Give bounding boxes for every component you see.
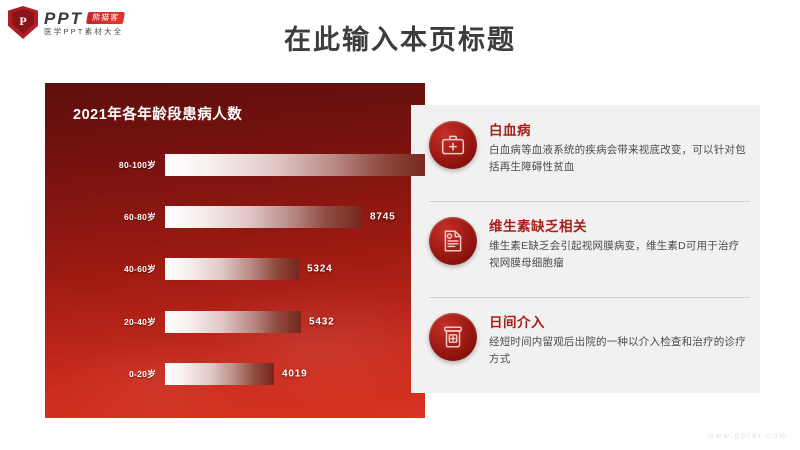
info-description: 经短时间内留观后出院的一种以介入检查和治疗的诊疗方式 [489, 334, 746, 368]
chart-panel: 2021年各年龄段患病人数 80-100岁1230060-80岁874540-6… [45, 83, 425, 418]
bar-track: 4019 [165, 363, 425, 385]
bar-fill [165, 258, 299, 280]
bar-chart: 80-100岁1230060-80岁874540-60岁532420-40岁54… [45, 139, 425, 400]
info-text-block: 白血病白血病等血液系统的疾病会带来视底改变，可以针对包括再生障碍性贫血 [489, 115, 746, 176]
bar-row: 80-100岁12300 [45, 154, 425, 176]
bar-value-label: 8745 [370, 212, 395, 223]
chart-title: 2021年各年龄段患病人数 [73, 103, 242, 124]
info-text-block: 维生素缺乏相关维生素E缺乏会引起视网膜病变，维生素D可用于治疗视网膜母细胞瘤 [489, 211, 746, 272]
first-aid-kit-icon [429, 121, 477, 169]
bar-track: 5324 [165, 258, 425, 280]
info-panel: 白血病白血病等血液系统的疾病会带来视底改变，可以针对包括再生障碍性贫血维生素缺乏… [411, 105, 760, 393]
bar-category-label: 60-80岁 [45, 211, 165, 223]
bar-track: 12300 [165, 154, 425, 176]
bar-row: 40-60岁5324 [45, 258, 425, 280]
info-item[interactable]: 日间介入经短时间内留观后出院的一种以介入检查和治疗的诊疗方式 [411, 297, 760, 393]
bar-track: 5432 [165, 311, 425, 333]
bar-fill [165, 206, 362, 228]
info-item[interactable]: 维生素缺乏相关维生素E缺乏会引起视网膜病变，维生素D可用于治疗视网膜母细胞瘤 [411, 201, 760, 297]
bar-fill [165, 363, 274, 385]
bar-row: 20-40岁5432 [45, 311, 425, 333]
bar-category-label: 20-40岁 [45, 316, 165, 328]
info-item[interactable]: 白血病白血病等血液系统的疾病会带来视底改变，可以针对包括再生障碍性贫血 [411, 105, 760, 201]
bar-category-label: 80-100岁 [45, 159, 165, 171]
watermark: www.ppter.com [708, 431, 788, 440]
bar-value-label: 5432 [309, 316, 334, 327]
info-heading: 维生素缺乏相关 [489, 215, 746, 235]
bar-category-label: 40-60岁 [45, 263, 165, 275]
bar-track: 8745 [165, 206, 425, 228]
info-description: 维生素E缺乏会引起视网膜病变，维生素D可用于治疗视网膜母细胞瘤 [489, 238, 746, 272]
info-description: 白血病等血液系统的疾病会带来视底改变，可以针对包括再生障碍性贫血 [489, 142, 746, 176]
bar-value-label: 5324 [307, 264, 332, 275]
medicine-jar-icon [429, 313, 477, 361]
page-title: 在此输入本页标题 [0, 18, 800, 57]
bar-value-label: 4019 [282, 368, 307, 379]
bar-fill [165, 154, 425, 176]
bar-row: 0-20岁4019 [45, 363, 425, 385]
info-heading: 白血病 [489, 119, 746, 139]
bar-category-label: 0-20岁 [45, 368, 165, 380]
info-text-block: 日间介入经短时间内留观后出院的一种以介入检查和治疗的诊疗方式 [489, 307, 746, 368]
bar-fill [165, 311, 301, 333]
medical-report-icon [429, 217, 477, 265]
info-heading: 日间介入 [489, 311, 746, 331]
bar-row: 60-80岁8745 [45, 206, 425, 228]
